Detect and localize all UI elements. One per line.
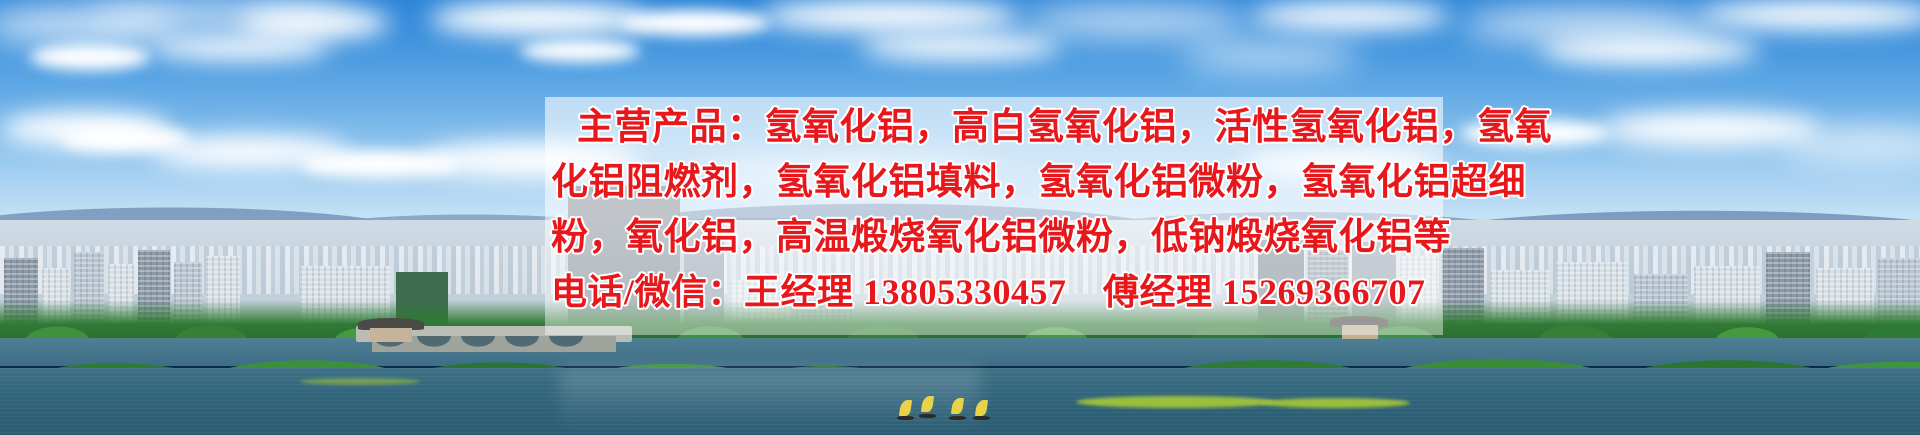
advertisement-text-block: 主营产品：氢氧化铝，高白氢氧化铝，活性氢氧化铝，氢氧 化铝阻燃剂，氢氧化铝填料，…: [551, 100, 1451, 320]
cloud-decoration: [30, 44, 150, 70]
promo-banner: 主营产品：氢氧化铝，高白氢氧化铝，活性氢氧化铝，氢氧 化铝阻燃剂，氢氧化铝填料，…: [0, 0, 1920, 435]
cloud-decoration: [760, 0, 1020, 32]
cloud-decoration: [240, 8, 390, 38]
sailboat: [922, 396, 940, 418]
boat-sail: [975, 400, 988, 416]
sailboat: [900, 400, 918, 420]
product-line-1: 主营产品：氢氧化铝，高白氢氧化铝，活性氢氧化铝，氢氧: [551, 100, 1451, 155]
cloud-decoration: [430, 2, 650, 36]
cloud-decoration: [1020, 6, 1250, 36]
contact-line: 电话/微信：王经理 13805330457 傅经理 15269366707: [551, 265, 1451, 320]
boat-hull: [949, 416, 966, 420]
boat-sail: [951, 398, 964, 414]
cloud-decoration: [520, 40, 640, 62]
cloud-decoration: [1540, 36, 1760, 64]
cloud-decoration: [1250, 2, 1450, 30]
cloud-decoration: [620, 10, 770, 36]
sailboat: [976, 400, 994, 420]
boat-sail: [899, 400, 912, 416]
algae-patch: [1260, 398, 1410, 408]
boat-sail: [921, 396, 934, 412]
cloud-decoration: [1180, 44, 1360, 68]
pagoda-body: [370, 328, 412, 342]
boat-hull: [973, 416, 990, 420]
cloud-decoration: [150, 36, 330, 60]
sailboat: [952, 398, 970, 420]
algae-patch: [1076, 396, 1276, 408]
product-line-2: 化铝阻燃剂，氢氧化铝填料，氢氧化铝微粉，氢氧化铝超细: [551, 155, 1451, 210]
product-line-3: 粉，氧化铝，高温煅烧氧化铝微粉，低钠煅烧氧化铝等: [551, 210, 1451, 265]
algae-patch: [300, 378, 420, 385]
boat-hull: [919, 414, 936, 418]
cloud-decoration: [860, 34, 1060, 60]
boat-hull: [897, 416, 914, 420]
